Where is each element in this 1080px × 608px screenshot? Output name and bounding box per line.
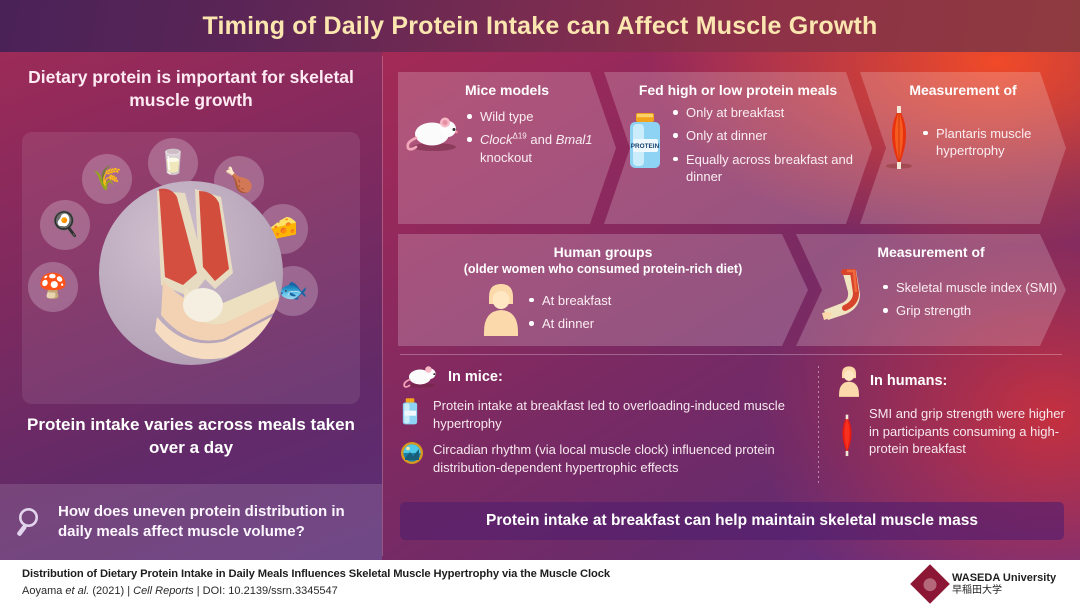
vertical-divider: [382, 56, 383, 556]
list-item: At dinner: [528, 315, 611, 332]
flow-card-title: Measurement of: [796, 244, 1066, 262]
gene-bmal1: Bmal1: [556, 132, 593, 147]
infographic-poster: Timing of Daily Protein Intake can Affec…: [0, 0, 1080, 608]
waseda-name-en: WASEDA University: [952, 572, 1056, 585]
muscle-fiber-icon: [836, 405, 860, 467]
flow-card-mice-models-body: Wild type ClockΔ19 and Bmal1 knockout: [404, 108, 612, 166]
woman-icon: [480, 280, 522, 344]
flow-card-mice-measurement-body: Plantaris muscle hypertrophy: [882, 106, 1058, 178]
conclusion-banner: Protein intake at breakfast can help mai…: [400, 502, 1064, 540]
list-item: Grip strength: [882, 302, 1057, 319]
citation-journal: Cell Reports: [133, 585, 194, 597]
flow-card-human-groups-body: At breakfast At dinner: [480, 280, 780, 344]
research-question-text: How does uneven protein distribution in …: [58, 502, 368, 542]
left-heading: Dietary protein is important for skeleta…: [12, 66, 370, 112]
findings-humans-header: In humans:: [836, 364, 1074, 398]
protein-bottle-icon: PROTEIN: [624, 111, 666, 179]
findings-mice-label: In mice:: [448, 369, 503, 385]
flow-card-title: Human groups (older women who consumed p…: [398, 244, 808, 277]
research-question-band: How does uneven protein distribution in …: [0, 484, 382, 560]
list-item: ClockΔ19 and Bmal1 knockout: [466, 131, 612, 166]
list-item: At breakfast: [528, 292, 611, 309]
flow-card-title: Measurement of: [860, 82, 1066, 100]
citation-doi: DOI: 10.2139/ssrn.3345547: [203, 585, 338, 597]
findings-mice-header: In mice:: [400, 364, 800, 390]
protein-foods-panel: 🥛 🌾 🍗 🍳 🧀 🍄 🐟: [22, 132, 360, 404]
food-bubble-wheat: 🌾: [82, 154, 132, 204]
mice-models-list: Wild type ClockΔ19 and Bmal1 knockout: [466, 108, 612, 166]
horizontal-divider: [400, 354, 1062, 355]
poster-footer: Distribution of Dietary Protein Intake i…: [0, 560, 1080, 608]
citation-etal: et al.: [65, 585, 89, 597]
protein-bottle-icon: [400, 397, 424, 427]
waseda-logo: WASEDA University 早稲田大学: [916, 570, 1056, 598]
elbow-muscle-illustration: [99, 181, 283, 365]
flow-card-human-measurement-body: Skeletal muscle index (SMI) Grip strengt…: [820, 268, 1058, 330]
waseda-diamond-icon: [910, 564, 950, 604]
finding-text: Circadian rhythm (via local muscle clock…: [433, 441, 800, 476]
mouse-icon: [400, 364, 440, 390]
mouse-icon: [404, 114, 460, 160]
waseda-logo-text: WASEDA University 早稲田大学: [952, 572, 1056, 596]
dotted-divider: [818, 366, 819, 486]
citation-authors: Aoyama: [22, 585, 62, 597]
list-item: Wild type: [466, 108, 612, 125]
finding-row: SMI and grip strength were higher in par…: [836, 405, 1074, 467]
gene-clock-superscript: Δ19: [513, 132, 527, 141]
citation-sep: |: [127, 585, 130, 597]
list-item: Skeletal muscle index (SMI): [882, 279, 1057, 296]
magnifier-icon: [14, 505, 48, 539]
list-item: Plantaris muscle hypertrophy: [922, 125, 1058, 160]
list-item: Only at dinner: [672, 127, 870, 144]
human-groups-list: At breakfast At dinner: [528, 292, 611, 333]
citation-year: (2021): [92, 585, 124, 597]
poster-header: Timing of Daily Protein Intake can Affec…: [0, 0, 1080, 52]
circadian-clock-icon: [400, 441, 424, 465]
mice-measurement-list: Plantaris muscle hypertrophy: [922, 125, 1058, 160]
findings-humans-label: In humans:: [870, 373, 947, 389]
woman-icon: [836, 364, 862, 398]
list-item: Equally across breakfast and dinner: [672, 151, 870, 186]
human-groups-title: Human groups: [554, 244, 653, 260]
food-bubble-mushroom: 🍄: [28, 262, 78, 312]
egg-icon: 🍳: [50, 213, 80, 237]
finding-row: Protein intake at breakfast led to overl…: [400, 397, 800, 432]
muscle-fiber-icon: [882, 106, 916, 178]
wheat-icon: 🌾: [92, 167, 122, 191]
citation-sep: |: [197, 585, 200, 597]
svg-text:PROTEIN: PROTEIN: [631, 143, 660, 150]
finding-row: Circadian rhythm (via local muscle clock…: [400, 441, 800, 476]
flow-card-fed-meals-body: PROTEIN Only at breakfast Only at dinner…: [624, 104, 870, 186]
milk-icon: 🥛: [158, 151, 188, 175]
gene-clock: Clock: [480, 132, 513, 147]
conclusion-text: Protein intake at breakfast can help mai…: [486, 512, 978, 530]
food-bubble-egg: 🍳: [40, 200, 90, 250]
flow-card-title: Fed high or low protein meals: [604, 82, 872, 100]
flow-card-title: Mice models: [398, 82, 616, 100]
citation: Aoyama et al. (2021) | Cell Reports | DO…: [22, 585, 338, 597]
human-measurement-list: Skeletal muscle index (SMI) Grip strengt…: [882, 279, 1057, 320]
left-subheading: Protein intake varies across meals taken…: [12, 414, 370, 460]
page-title: Timing of Daily Protein Intake can Affec…: [202, 12, 877, 41]
conjunction: and: [527, 132, 556, 147]
findings-mice: In mice: Protein intake at breakfast led…: [400, 364, 800, 486]
list-item: Only at breakfast: [672, 104, 870, 121]
mushroom-icon: 🍄: [38, 275, 68, 299]
fed-meals-list: Only at breakfast Only at dinner Equally…: [672, 104, 870, 186]
left-panel: Dietary protein is important for skeleta…: [0, 52, 382, 560]
finding-text: Protein intake at breakfast led to overl…: [433, 397, 800, 432]
finding-text: SMI and grip strength were higher in par…: [869, 405, 1074, 458]
human-groups-subtitle: (older women who consumed protein-rich d…: [398, 262, 808, 278]
waseda-name-jp: 早稲田大学: [952, 585, 1056, 597]
arm-anatomy-icon: [820, 268, 876, 330]
paper-title: Distribution of Dietary Protein Intake i…: [22, 568, 610, 580]
knockout-text: knockout: [480, 150, 532, 165]
findings-humans: In humans: SMI and grip strength were hi…: [836, 364, 1074, 476]
